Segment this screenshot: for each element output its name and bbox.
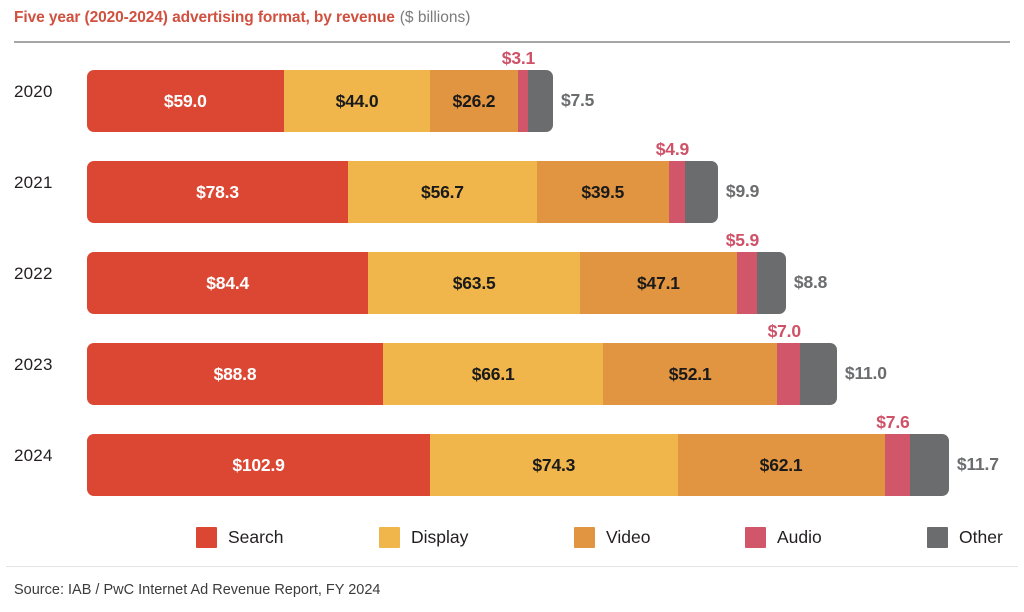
chart-row-2023: 2023$88.8$66.1$52.1$7.0$11.0 (0, 325, 1024, 416)
stacked-bar-chart: 2020$59.0$44.0$26.2$3.1$7.52021$78.3$56.… (0, 52, 1024, 512)
segment-value-label: $102.9 (232, 455, 284, 476)
bar-segment-search[interactable]: $84.4 (87, 252, 368, 314)
legend-swatch-search-icon (196, 527, 217, 548)
stacked-bar: $88.8$66.1$52.1 (87, 343, 837, 405)
audio-value-label: $3.1 (502, 48, 535, 69)
bar-segment-video[interactable]: $52.1 (603, 343, 777, 405)
segment-value-label: $66.1 (472, 364, 515, 385)
other-value-label: $8.8 (794, 272, 827, 293)
legend-swatch-other-icon (927, 527, 948, 548)
segment-value-label: $59.0 (164, 91, 207, 112)
bar-segment-display[interactable]: $74.3 (430, 434, 678, 496)
year-label: 2020 (14, 82, 78, 102)
chart-row-2021: 2021$78.3$56.7$39.5$4.9$9.9 (0, 143, 1024, 234)
segment-value-label: $52.1 (669, 364, 712, 385)
legend-item-video[interactable]: Video (574, 520, 650, 554)
segment-value-label: $62.1 (760, 455, 803, 476)
segment-value-label: $78.3 (196, 182, 239, 203)
audio-value-label: $4.9 (656, 139, 689, 160)
segment-value-label: $47.1 (637, 273, 680, 294)
stacked-bar: $102.9$74.3$62.1 (87, 434, 949, 496)
segment-value-label: $39.5 (581, 182, 624, 203)
bar-segment-audio[interactable] (518, 70, 528, 132)
audio-value-label: $7.6 (876, 412, 909, 433)
segment-value-label: $84.4 (206, 273, 249, 294)
audio-value-label: $7.0 (768, 321, 801, 342)
bar-segment-other[interactable] (757, 252, 786, 314)
bar-segment-display[interactable]: $56.7 (348, 161, 537, 223)
bar-segment-search[interactable]: $59.0 (87, 70, 284, 132)
bar-segment-display[interactable]: $66.1 (383, 343, 603, 405)
bar-segment-audio[interactable] (737, 252, 757, 314)
legend-label: Search (228, 527, 283, 548)
segment-value-label: $63.5 (453, 273, 496, 294)
bar-segment-other[interactable] (685, 161, 718, 223)
chart-row-2020: 2020$59.0$44.0$26.2$3.1$7.5 (0, 52, 1024, 143)
bar-segment-video[interactable]: $62.1 (678, 434, 885, 496)
year-label: 2023 (14, 355, 78, 375)
segment-value-label: $88.8 (214, 364, 257, 385)
legend-label: Audio (777, 527, 822, 548)
stacked-bar: $84.4$63.5$47.1 (87, 252, 786, 314)
chart-title-main: Five year (2020-2024) advertising format… (14, 9, 395, 27)
legend-swatch-video-icon (574, 527, 595, 548)
bar-segment-search[interactable]: $78.3 (87, 161, 348, 223)
bar-segment-display[interactable]: $63.5 (368, 252, 580, 314)
legend-item-display[interactable]: Display (379, 520, 468, 554)
other-value-label: $11.7 (957, 454, 999, 475)
legend-label: Other (959, 527, 1003, 548)
bar-segment-other[interactable] (800, 343, 837, 405)
year-label: 2022 (14, 264, 78, 284)
title-divider (14, 41, 1010, 43)
bar-segment-video[interactable]: $47.1 (580, 252, 737, 314)
stacked-bar: $78.3$56.7$39.5 (87, 161, 718, 223)
bar-segment-video[interactable]: $39.5 (537, 161, 669, 223)
bar-segment-other[interactable] (910, 434, 949, 496)
other-value-label: $7.5 (561, 90, 594, 111)
segment-value-label: $56.7 (421, 182, 464, 203)
other-value-label: $9.9 (726, 181, 759, 202)
other-value-label: $11.0 (845, 363, 887, 384)
segment-value-label: $44.0 (336, 91, 379, 112)
footer-divider (6, 566, 1018, 567)
chart-legend: SearchDisplayVideoAudioOther (0, 520, 1024, 554)
legend-item-other[interactable]: Other (927, 520, 1003, 554)
source-note: Source: IAB / PwC Internet Ad Revenue Re… (14, 582, 380, 598)
chart-row-2024: 2024$102.9$74.3$62.1$7.6$11.7 (0, 416, 1024, 507)
bar-segment-other[interactable] (528, 70, 553, 132)
year-label: 2021 (14, 173, 78, 193)
chart-title: Five year (2020-2024) advertising format… (14, 5, 1010, 31)
legend-label: Video (606, 527, 650, 548)
chart-title-unit: ($ billions) (400, 9, 471, 27)
stacked-bar: $59.0$44.0$26.2 (87, 70, 553, 132)
bar-segment-video[interactable]: $26.2 (430, 70, 517, 132)
bar-segment-search[interactable]: $102.9 (87, 434, 430, 496)
year-label: 2024 (14, 446, 78, 466)
bar-segment-audio[interactable] (777, 343, 800, 405)
legend-item-search[interactable]: Search (196, 520, 283, 554)
legend-label: Display (411, 527, 468, 548)
legend-item-audio[interactable]: Audio (745, 520, 822, 554)
chart-row-2022: 2022$84.4$63.5$47.1$5.9$8.8 (0, 234, 1024, 325)
bar-segment-audio[interactable] (885, 434, 910, 496)
legend-swatch-audio-icon (745, 527, 766, 548)
bar-segment-display[interactable]: $44.0 (284, 70, 431, 132)
segment-value-label: $26.2 (453, 91, 496, 112)
bar-segment-audio[interactable] (669, 161, 685, 223)
audio-value-label: $5.9 (726, 230, 759, 251)
bar-segment-search[interactable]: $88.8 (87, 343, 383, 405)
legend-swatch-display-icon (379, 527, 400, 548)
segment-value-label: $74.3 (532, 455, 575, 476)
